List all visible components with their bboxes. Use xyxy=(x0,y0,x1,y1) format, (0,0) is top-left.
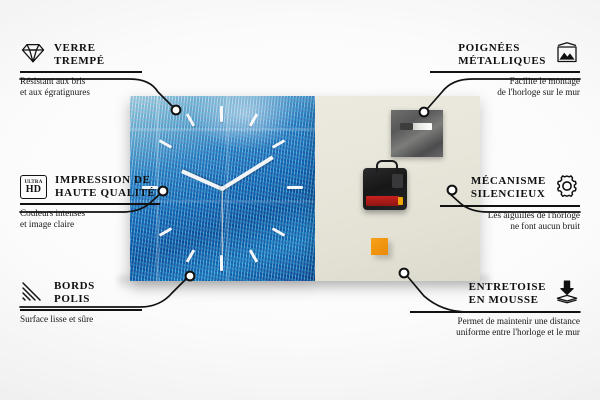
callout-rule xyxy=(20,203,160,205)
callout-desc: Couleurs intenses et image claire xyxy=(20,208,170,231)
clock-tick-12 xyxy=(220,106,223,122)
callout-title: BORDS POLIS xyxy=(54,280,95,306)
clock-tick-3 xyxy=(287,186,303,189)
metal-hanger-plate xyxy=(391,110,443,157)
callout-rule xyxy=(440,205,580,207)
clock-tick-4 xyxy=(272,227,286,237)
callout-title: MÉCANISME SILENCIEUX xyxy=(471,175,546,201)
callout-title-row: MÉCANISME SILENCIEUX xyxy=(440,174,580,202)
callout-desc: Surface lisse et sûre xyxy=(20,314,160,325)
callout-rule xyxy=(20,309,142,311)
callout-title: POIGNÉES MÉTALLIQUES xyxy=(458,42,546,68)
callout-desc: Permet de maintenir une distance uniform… xyxy=(410,316,580,339)
callout-title-row: ENTRETOISE EN MOUSSE xyxy=(410,280,580,308)
clock-tick-10 xyxy=(159,139,173,149)
callout-title-row: VERRE TREMPÉ xyxy=(20,42,160,68)
callout-desc: Les aiguilles de l'horloge ne font aucun… xyxy=(440,210,580,233)
clock-tick-1 xyxy=(249,113,259,127)
callout-impression-haute-qualite[interactable]: ultra HD IMPRESSION DE HAUTE QUALITÉ Cou… xyxy=(20,174,170,230)
clock-hand-minute xyxy=(221,156,274,191)
clock-tick-5 xyxy=(249,249,259,263)
clock-tick-7 xyxy=(186,249,196,263)
callout-entretoise-en-mousse[interactable]: ENTRETOISE EN MOUSSE Permet de maintenir… xyxy=(410,280,580,338)
battery xyxy=(366,196,399,206)
clock-pivot xyxy=(220,186,225,191)
product-photo xyxy=(130,96,480,281)
callout-rule xyxy=(20,71,142,73)
clock-tick-6 xyxy=(220,255,223,271)
callout-mecanisme-silencieux[interactable]: MÉCANISME SILENCIEUX Les aiguilles de l'… xyxy=(440,174,580,232)
hd-badge-hd-text: HD xyxy=(26,185,42,195)
callout-verre-trempe[interactable]: VERRE TREMPÉ Résistant aux bris et aux é… xyxy=(20,42,160,98)
arrow-down-layers-icon xyxy=(554,280,580,308)
clock-tick-11 xyxy=(186,113,196,127)
clock-tick-2 xyxy=(272,139,286,149)
callout-title-row: POIGNÉES MÉTALLIQUES xyxy=(430,42,580,68)
callout-rule xyxy=(410,311,580,313)
foam-spacer xyxy=(371,238,388,255)
callout-bords-polis[interactable]: BORDS POLIS Surface lisse et sûre xyxy=(20,280,160,325)
gear-icon xyxy=(554,174,580,202)
clock-hand-hour xyxy=(181,169,223,191)
mechanism-chip xyxy=(392,174,403,188)
diagonal-lines-icon xyxy=(20,280,46,306)
callout-title-row: ultra HD IMPRESSION DE HAUTE QUALITÉ xyxy=(20,174,170,200)
callout-desc: Résistant aux bris et aux égratignures xyxy=(20,76,160,99)
callout-title: IMPRESSION DE HAUTE QUALITÉ xyxy=(55,174,155,200)
callout-title-row: BORDS POLIS xyxy=(20,280,160,306)
clock-mechanism xyxy=(363,168,407,210)
callout-title: ENTRETOISE EN MOUSSE xyxy=(469,281,546,307)
callout-desc: Facilite le montage de l'horloge sur le … xyxy=(430,76,580,99)
ultra-hd-badge-icon: ultra HD xyxy=(20,175,47,199)
callout-title: VERRE TREMPÉ xyxy=(54,42,105,68)
diamond-icon xyxy=(20,42,46,68)
mechanism-hanging-loop xyxy=(376,160,398,172)
clock-hand-second xyxy=(221,189,222,255)
infographic-canvas: VERRE TREMPÉ Résistant aux bris et aux é… xyxy=(0,0,600,400)
callout-rule xyxy=(430,71,580,73)
framed-picture-icon xyxy=(554,42,580,68)
callout-poignees-metalliques[interactable]: POIGNÉES MÉTALLIQUES Facilite le montage… xyxy=(430,42,580,98)
hanger-slot-hole xyxy=(400,123,413,130)
